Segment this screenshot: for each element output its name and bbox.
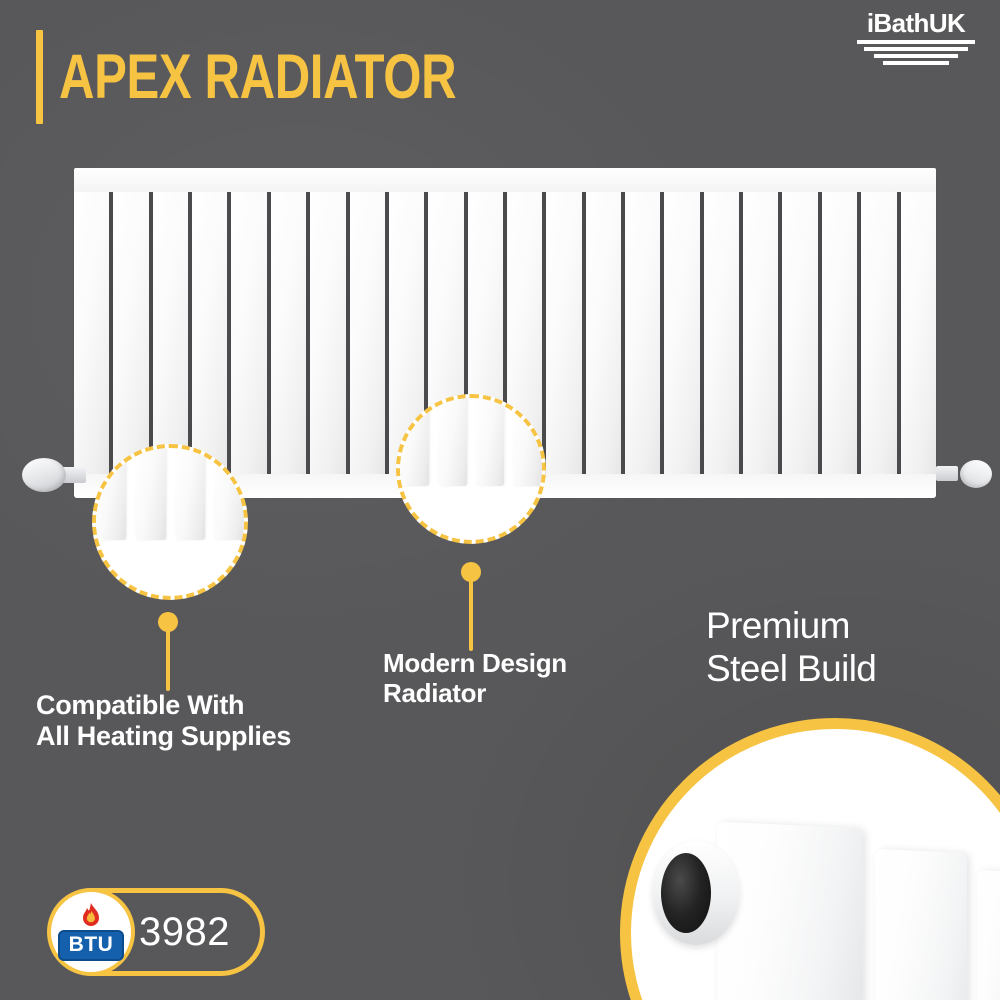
flame-icon	[78, 903, 104, 931]
radiator-panel	[310, 168, 345, 498]
btu-icon: BTU	[47, 888, 135, 976]
pin-stem	[166, 629, 170, 691]
magnified-fin	[214, 448, 244, 540]
btu-chip-label: BTU	[58, 930, 125, 960]
brand-logo: iBathUK	[848, 10, 984, 65]
feature-label-line2: All Heating Supplies	[36, 721, 291, 752]
feature-label-modern-design: Modern Design Radiator	[383, 648, 567, 708]
detail-pipe-opening	[661, 853, 711, 933]
feature-label-line2: Steel Build	[706, 648, 876, 691]
feature-label-premium-steel: Premium Steel Build	[706, 605, 876, 691]
radiator-panel	[901, 168, 936, 498]
feature-label-line2: Radiator	[383, 678, 567, 708]
detail-fin-back	[977, 870, 1000, 1000]
radiator-panel	[271, 168, 306, 498]
feature-label-compatible: Compatible With All Heating Supplies	[36, 690, 291, 753]
brand-rule-4	[883, 61, 949, 65]
page-title: APEX RADIATOR	[59, 46, 456, 109]
detail-closeup-scene	[631, 729, 1000, 1000]
brand-rule-2	[864, 47, 968, 51]
page-title-bar: APEX RADIATOR	[36, 24, 568, 130]
magnified-fin	[513, 398, 542, 486]
radiator-valve-left	[22, 452, 86, 502]
radiator-panel	[546, 168, 581, 498]
radiator-panel	[782, 168, 817, 498]
brand-rule-1	[857, 40, 975, 44]
valve-right-knob	[960, 460, 992, 488]
feature-label-line1: Modern Design	[383, 648, 567, 678]
detail-fin-front	[717, 822, 863, 1000]
magnifier-circle-modern-design	[396, 394, 546, 544]
title-accent-bar	[36, 30, 43, 124]
valve-right-neck	[936, 466, 958, 481]
magnified-fin	[175, 448, 205, 540]
valve-left-knob	[22, 458, 66, 492]
magnified-fin	[400, 398, 429, 486]
magnified-fin	[135, 448, 165, 540]
magnifier-circle-compatible	[92, 444, 248, 600]
radiator-valve-right	[936, 456, 992, 500]
magnifier-1-content	[96, 448, 244, 596]
radiator-panel	[664, 168, 699, 498]
btu-badge: BTU 3982	[48, 888, 265, 976]
radiator-panel	[822, 168, 857, 498]
detail-fin-mid	[875, 849, 967, 1000]
radiator-top-rail	[74, 168, 936, 192]
brand-name: iBathUK	[867, 10, 965, 37]
radiator-panel	[586, 168, 621, 498]
feature-label-line1: Premium	[706, 605, 876, 648]
radiator-panel	[350, 168, 385, 498]
magnified-fin	[476, 398, 505, 486]
detail-closeup-circle	[620, 718, 1000, 1000]
magnified-fin	[438, 398, 467, 486]
product-marketing-image: APEX RADIATOR iBathUK	[0, 0, 1000, 1000]
radiator-panel	[743, 168, 778, 498]
pin-dot	[158, 612, 178, 632]
feature-label-line1: Compatible With	[36, 690, 291, 721]
radiator-panel	[625, 168, 660, 498]
pin-stem	[469, 579, 473, 651]
magnified-fin	[96, 448, 126, 540]
radiator-panel	[861, 168, 896, 498]
btu-value: 3982	[139, 910, 230, 955]
magnifier-2-content	[400, 398, 542, 540]
pin-dot	[461, 562, 481, 582]
radiator-panel	[704, 168, 739, 498]
brand-rule-3	[874, 54, 958, 58]
